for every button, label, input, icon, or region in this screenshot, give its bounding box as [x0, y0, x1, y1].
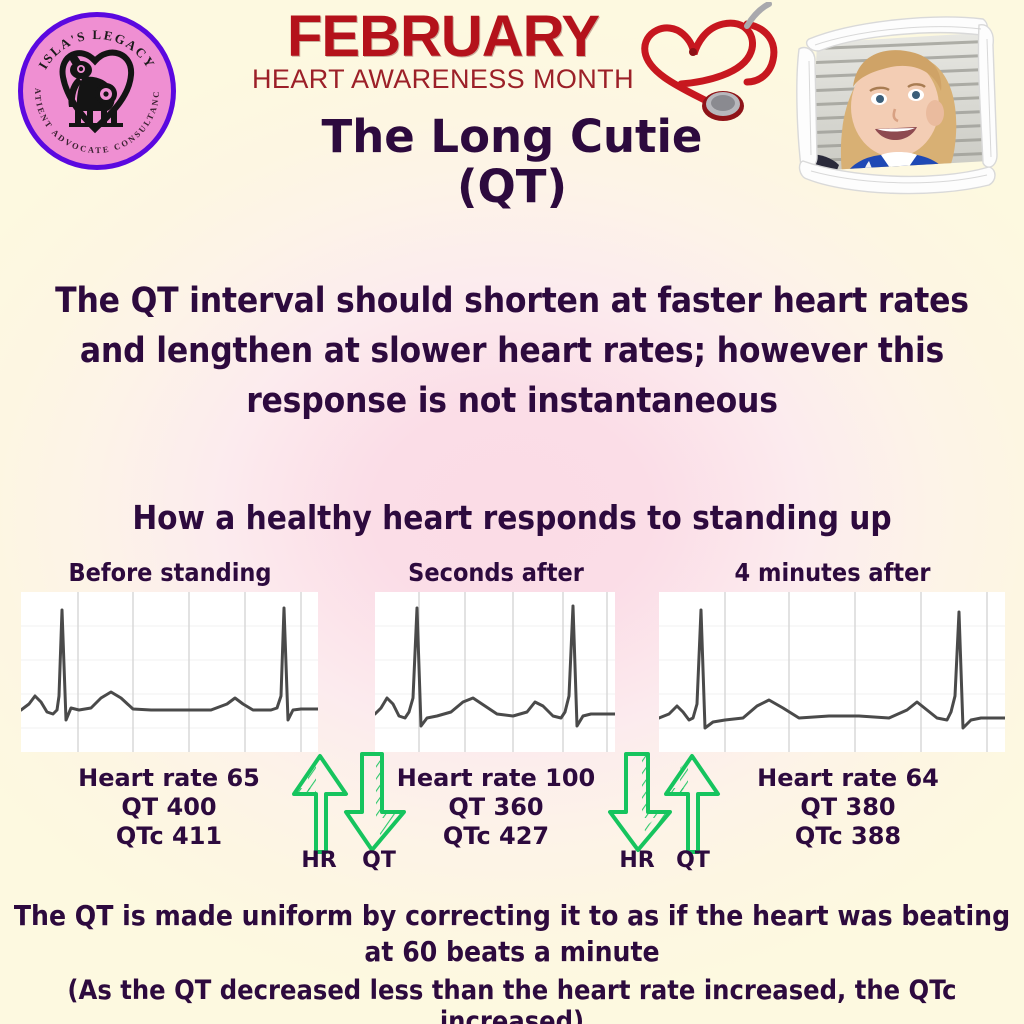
- qt-down-arrow-icon: [346, 754, 404, 850]
- panel-label-before-standing: Before standing: [22, 558, 318, 587]
- section-heading: How a healthy heart responds to standing…: [0, 498, 1024, 537]
- arrow-label-qt-1: QT: [352, 848, 406, 873]
- hr-down-arrow-icon: [610, 754, 670, 850]
- footer-line-1: The QT is made uniform by correcting it …: [10, 898, 1014, 970]
- footer-line-2: (As the QT decreased less than the heart…: [10, 975, 1014, 1024]
- heart-shaped-stethoscope-icon: [627, 2, 802, 122]
- qt-up-arrow-icon: [666, 756, 718, 852]
- arrow-label-hr-2: HR: [610, 848, 664, 873]
- page-title-line1: The Long Cutie: [0, 112, 1024, 162]
- hr-up-arrow-icon: [294, 756, 346, 852]
- vitals-before-standing: Heart rate 65 QT 400 QTc 411: [24, 764, 314, 851]
- campaign-header: FEBRUARY HEART AWARENESS MONTH: [243, 8, 643, 94]
- arrow-label-qt-2: QT: [666, 848, 720, 873]
- ecg-strip-seconds-after: [375, 592, 615, 752]
- month-title: FEBRUARY: [243, 8, 643, 66]
- intro-paragraph: The QT interval should shorten at faster…: [30, 276, 994, 426]
- ecg-strip-4-minutes-after: [659, 592, 1005, 752]
- panel-label-4-minutes-after: 4 minutes after: [660, 558, 1005, 587]
- arrow-label-hr-1: HR: [292, 848, 346, 873]
- campaign-subtitle: HEART AWARENESS MONTH: [243, 64, 643, 94]
- vitals-4-minutes-after: Heart rate 64 QT 380 QTc 388: [700, 764, 996, 851]
- arrow-group-2: HR QT: [608, 748, 736, 856]
- page-title-line2: (QT): [0, 162, 1024, 212]
- ecg-strip-before-standing: [21, 592, 318, 752]
- logo-top-text: ISLA'S LEGACY: [35, 27, 158, 72]
- page-title: The Long Cutie (QT): [0, 112, 1024, 212]
- arrow-group-1: HR QT: [286, 748, 414, 856]
- infographic-poster: ISLA'S LEGACY PATIENT ADVOCATE CONSULTAN…: [0, 0, 1024, 1024]
- vitals-seconds-after: Heart rate 100 QT 360 QTc 427: [380, 764, 612, 851]
- panel-label-seconds-after: Seconds after: [376, 558, 616, 587]
